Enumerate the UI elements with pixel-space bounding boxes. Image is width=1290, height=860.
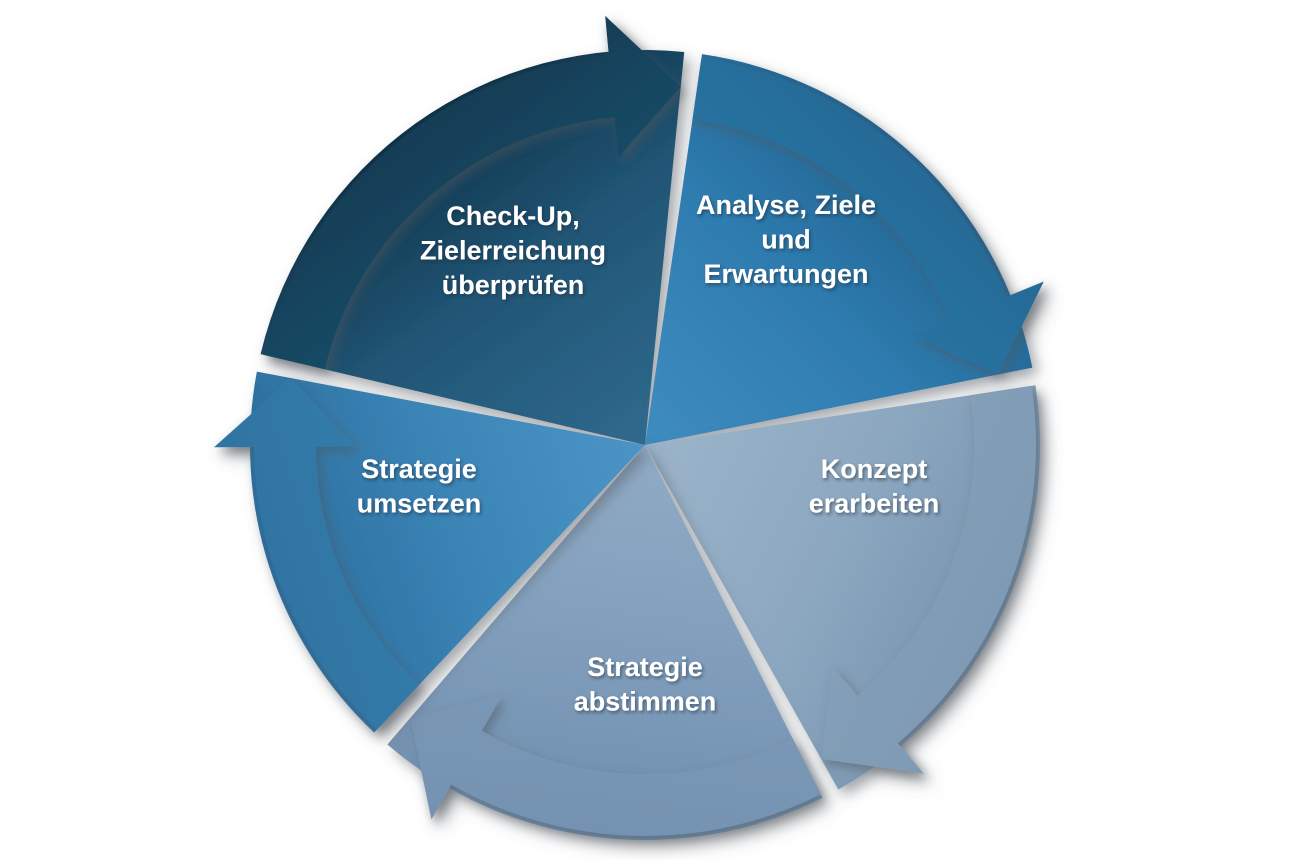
segment-label-line: Strategie — [587, 652, 703, 682]
segment-label-line: erarbeiten — [809, 489, 940, 519]
segment-label-line: überprüfen — [442, 270, 585, 300]
cycle-diagram-canvas: Analyse, ZieleundErwartungenKonzepterarb… — [0, 0, 1290, 860]
cycle-diagram: Analyse, ZieleundErwartungenKonzepterarb… — [0, 0, 1290, 860]
segment-label-line: Konzept — [821, 454, 927, 484]
cycle-segment-konzept[interactable] — [645, 54, 1044, 445]
segment-label-line: Zielerreichung — [420, 236, 606, 266]
segment-label-checkup: Check-Up,Zielerreichungüberprüfen — [420, 201, 606, 300]
segment-label-line: umsetzen — [357, 489, 482, 519]
segment-label-line: abstimmen — [574, 687, 717, 717]
segment-label-line: Analyse, Ziele — [696, 190, 876, 220]
segment-label-line: und — [761, 225, 810, 255]
segment-label-line: Strategie — [361, 454, 477, 484]
segment-label-line: Check-Up, — [446, 201, 580, 231]
segment-label-line: Erwartungen — [703, 259, 868, 289]
